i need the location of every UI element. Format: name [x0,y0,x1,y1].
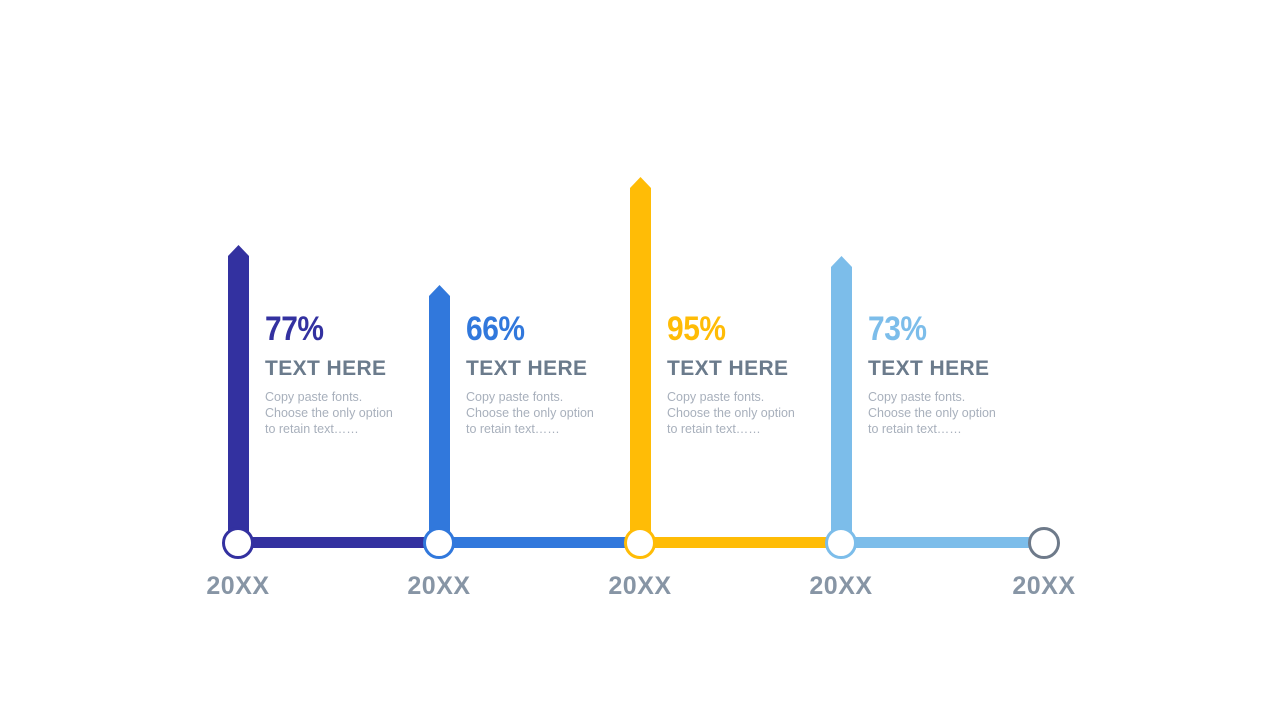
percent-value: 95% [667,312,825,346]
callout-block-4: 73% TEXT HERE Copy paste fonts. Choose t… [868,312,1048,437]
timeline-segment-2 [439,537,640,548]
body-line: Copy paste fonts. [868,389,1048,405]
percent-value: 73% [868,312,1026,346]
callout-body: Copy paste fonts. Choose the only option… [667,389,847,437]
year-label-3: 20XX [570,572,710,601]
body-line: Choose the only option [466,405,646,421]
body-line: Choose the only option [265,405,445,421]
timeline-node-4[interactable] [825,527,857,559]
timeline-segment-1 [238,537,439,548]
timeline-node-2[interactable] [423,527,455,559]
callout-body: Copy paste fonts. Choose the only option… [466,389,646,437]
callout-heading: TEXT HERE [265,358,445,379]
timeline-infographic: 20XX 20XX 20XX 20XX 20XX 77% TEXT HERE C… [0,0,1280,720]
timeline-node-1[interactable] [222,527,254,559]
timeline-segment-3 [640,537,841,548]
callout-heading: TEXT HERE [868,358,1048,379]
callout-body: Copy paste fonts. Choose the only option… [868,389,1048,437]
callout-body: Copy paste fonts. Choose the only option… [265,389,445,437]
body-line: Choose the only option [667,405,847,421]
callout-block-3: 95% TEXT HERE Copy paste fonts. Choose t… [667,312,847,437]
callout-block-2: 66% TEXT HERE Copy paste fonts. Choose t… [466,312,646,437]
body-line: Copy paste fonts. [265,389,445,405]
percent-value: 66% [466,312,624,346]
arrow-column-1 [228,245,249,543]
body-line: to retain text…… [466,421,646,437]
percent-value: 77% [265,312,423,346]
body-line: to retain text…… [667,421,847,437]
body-line: Choose the only option [868,405,1048,421]
timeline-node-5[interactable] [1028,527,1060,559]
arrow-shaft [228,256,249,543]
body-line: Copy paste fonts. [667,389,847,405]
body-line: to retain text…… [868,421,1048,437]
year-label-5: 20XX [974,572,1114,601]
body-line: Copy paste fonts. [466,389,646,405]
timeline-node-3[interactable] [624,527,656,559]
body-line: to retain text…… [265,421,445,437]
year-label-2: 20XX [369,572,509,601]
callout-heading: TEXT HERE [667,358,847,379]
year-label-4: 20XX [771,572,911,601]
timeline-segment-4 [841,537,1044,548]
callout-block-1: 77% TEXT HERE Copy paste fonts. Choose t… [265,312,445,437]
callout-heading: TEXT HERE [466,358,646,379]
year-label-1: 20XX [168,572,308,601]
